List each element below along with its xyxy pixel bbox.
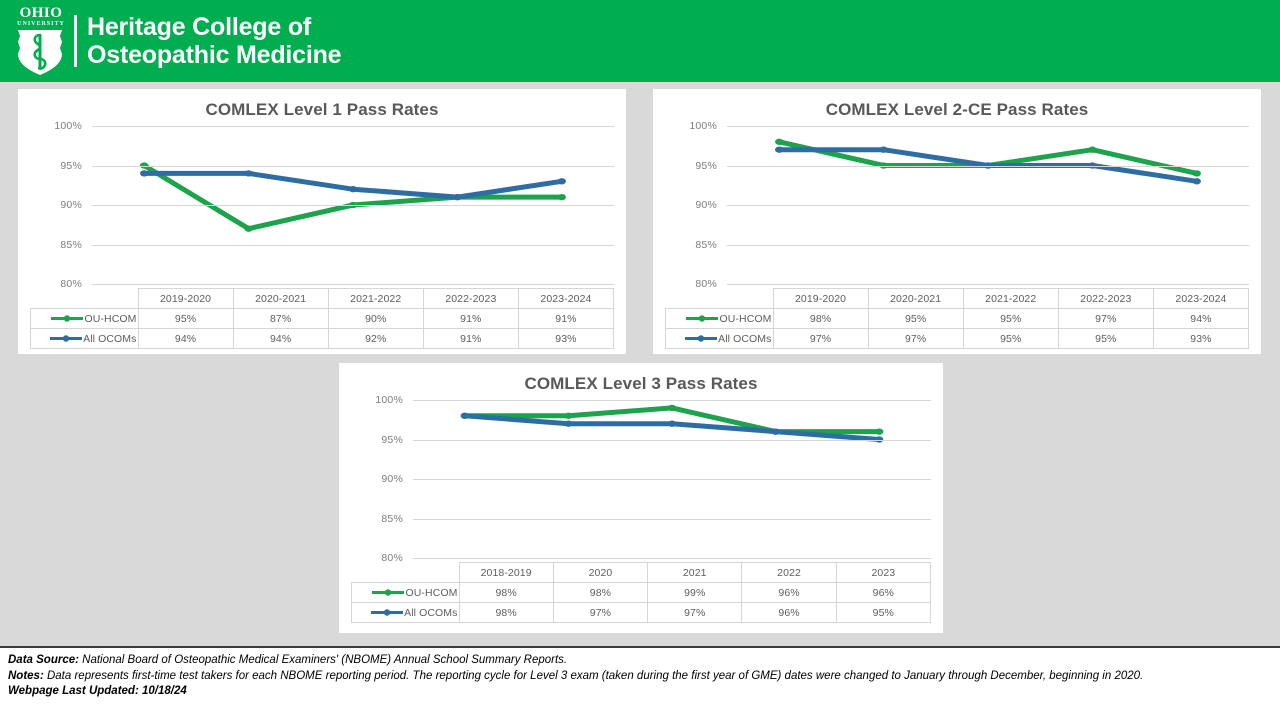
table-cell-value: 92% [328,329,423,349]
plot-wrap-level1: 100%95%90%85%80% [30,126,614,284]
gridline [413,400,931,401]
gridline [413,519,931,520]
y-tick-label: 85% [381,513,403,525]
table-cell-value: 95% [1058,329,1153,349]
table-cell-value: 91% [423,309,518,329]
gridline [92,166,614,167]
shield-svg [16,28,64,76]
legend-cell-all-ocoms: All OCOMs [666,329,774,349]
data-source-label: Data Source: [8,654,79,666]
footnotes: Data Source: National Board of Osteopath… [0,646,1280,720]
data-point-marker [875,428,883,434]
y-tick-label: 80% [695,278,717,290]
ohio-university-shield-icon: OHIO UNIVERSITY [8,4,70,78]
table-column-header: 2020-2021 [233,289,328,309]
series-line-all-ocoms [465,416,879,440]
table-cell-value: 93% [1153,329,1248,349]
data-table-level2: 2019-20202020-20212021-20222022-20232023… [665,288,1249,349]
table-row: OU-HCOM95%87%90%91%91% [31,309,614,329]
gridline [727,284,1249,285]
plot-area-level3 [413,400,931,558]
data-point-marker [564,421,572,427]
chart-panel-level2: COMLEX Level 2-CE Pass Rates 100%95%90%8… [653,89,1261,354]
table-corner-cell [352,563,460,583]
gridline [413,479,931,480]
gridline [727,205,1249,206]
table-cell-value: 96% [742,603,836,623]
table-header-row: 2019-20202020-20212021-20222022-20232023… [666,289,1249,309]
college-title: Heritage College of Osteopathic Medicine [87,13,341,69]
y-axis-level3: 100%95%90%85%80% [351,400,409,558]
legend-line-marker-icon [370,607,404,618]
table-cell-value: 97% [553,603,647,623]
y-tick-label: 95% [695,160,717,172]
table-column-header: 2019-2020 [138,289,233,309]
gridline [92,245,614,246]
data-point-marker [879,147,887,153]
data-point-marker [244,170,252,176]
data-point-marker [775,139,783,145]
legend-cell-ou-hcom: OU-HCOM [352,583,460,603]
y-tick-label: 85% [60,239,82,251]
table-cell-value: 87% [233,309,328,329]
data-point-marker [564,413,572,419]
table-cell-value: 90% [328,309,423,329]
data-source-line: Data Source: National Board of Osteopath… [8,653,1272,668]
table-column-header: 2021-2022 [963,289,1058,309]
legend-label: OU-HCOM [719,313,771,325]
table-cell-value: 95% [138,309,233,329]
legend-label: OU-HCOM [405,587,457,599]
table-column-header: 2020 [553,563,647,583]
table-column-header: 2021 [648,563,742,583]
gridline [413,440,931,441]
table-column-header: 2022-2023 [1058,289,1153,309]
data-point-marker [244,226,252,232]
table-cell-value: 91% [423,329,518,349]
table-row: All OCOMs94%94%92%91%93% [31,329,614,349]
plot-area-level2 [727,126,1249,284]
table-header-row: 2019-20202020-20212021-20222022-20232023… [31,289,614,309]
data-point-marker [771,428,779,434]
table-row: All OCOMs97%97%95%95%93% [666,329,1249,349]
table-cell-value: 94% [1153,309,1248,329]
y-tick-label: 85% [695,239,717,251]
table-cell-value: 95% [963,329,1058,349]
notes-label: Notes: [8,670,44,682]
legend-label: OU-HCOM [84,313,136,325]
logo-subwordmark: UNIVERSITY [12,21,70,28]
data-point-marker [1193,178,1201,184]
y-axis-level1: 100%95%90%85%80% [30,126,88,284]
gridline [413,558,931,559]
y-tick-label: 100% [54,120,82,132]
table-cell-value: 98% [459,583,553,603]
data-point-marker [775,147,783,153]
y-tick-label: 95% [60,160,82,172]
legend-label: All OCOMs [404,607,457,619]
table-cell-value: 95% [868,309,963,329]
y-tick-label: 90% [60,199,82,211]
legend-cell-ou-hcom: OU-HCOM [666,309,774,329]
legend-line-marker-icon [49,333,83,344]
table-cell-value: 95% [963,309,1058,329]
data-point-marker [349,186,357,192]
table-cell-value: 98% [773,309,868,329]
data-point-marker [558,194,566,200]
table-corner-cell [31,289,139,309]
table-column-header: 2023-2024 [518,289,613,309]
table-cell-value: 97% [773,329,868,349]
y-tick-label: 80% [381,552,403,564]
table-cell-value: 95% [836,603,930,623]
data-point-marker [453,194,461,200]
gridline [92,284,614,285]
site-header: OHIO UNIVERSITY Heritage College of Oste… [0,0,1280,82]
chart-title-level1: COMLEX Level 1 Pass Rates [18,89,626,120]
gridline [92,205,614,206]
legend-line-marker-icon [685,313,719,324]
y-axis-level2: 100%95%90%85%80% [665,126,723,284]
ohio-university-logo: OHIO UNIVERSITY Heritage College of Oste… [8,4,341,78]
gridline [727,126,1249,127]
y-tick-label: 80% [60,278,82,290]
plot-wrap-level2: 100%95%90%85%80% [665,126,1249,284]
plot-area-level1 [92,126,614,284]
data-point-marker [1088,147,1096,153]
y-tick-label: 100% [375,394,403,406]
legend-line-marker-icon [371,587,405,598]
table-column-header: 2019-2020 [773,289,868,309]
table-cell-value: 99% [648,583,742,603]
y-tick-label: 90% [695,199,717,211]
table-column-header: 2023-2024 [1153,289,1248,309]
legend-cell-all-ocoms: All OCOMs [352,603,460,623]
table-cell-value: 91% [518,309,613,329]
plot-wrap-level3: 100%95%90%85%80% [351,400,931,558]
table-column-header: 2022 [742,563,836,583]
notes-line: Notes: Data represents first-time test t… [8,669,1272,684]
college-title-line2: Osteopathic Medicine [87,41,341,69]
table-column-header: 2018-2019 [459,563,553,583]
y-tick-label: 95% [381,434,403,446]
table-column-header: 2020-2021 [868,289,963,309]
data-point-marker [461,413,469,419]
legend-label: All OCOMs [83,333,136,345]
legend-label: All OCOMs [718,333,771,345]
table-row: All OCOMs98%97%97%96%95% [352,603,931,623]
table-cell-value: 97% [648,603,742,623]
table-cell-value: 93% [518,329,613,349]
data-point-marker [668,421,676,427]
chart-title-level3: COMLEX Level 3 Pass Rates [339,363,943,394]
gridline [727,166,1249,167]
table-cell-value: 98% [459,603,553,623]
table-corner-cell [666,289,774,309]
table-cell-value: 97% [868,329,963,349]
table-cell-value: 94% [233,329,328,349]
notes-text: Data represents first-time test takers f… [44,670,1143,682]
y-tick-label: 90% [381,473,403,485]
data-source-text: National Board of Osteopathic Medical Ex… [79,654,567,666]
table-column-header: 2023 [836,563,930,583]
table-cell-value: 98% [553,583,647,603]
gridline [92,126,614,127]
logo-wordmark: OHIO [12,6,70,21]
last-updated-line: Webpage Last Updated: 10/18/24 [8,684,1272,699]
data-point-marker [668,405,676,411]
logo-divider [74,15,77,67]
legend-cell-ou-hcom: OU-HCOM [31,309,139,329]
y-tick-label: 100% [689,120,717,132]
table-column-header: 2022-2023 [423,289,518,309]
table-cell-value: 96% [836,583,930,603]
data-point-marker [1193,170,1201,176]
chart-panel-level1: COMLEX Level 1 Pass Rates 100%95%90%85%8… [18,89,626,354]
table-header-row: 2018-20192020202120222023 [352,563,931,583]
legend-cell-all-ocoms: All OCOMs [31,329,139,349]
gridline [727,245,1249,246]
data-table-level1: 2019-20202020-20212021-20222022-20232023… [30,288,614,349]
college-title-line1: Heritage College of [87,13,341,41]
table-cell-value: 96% [742,583,836,603]
table-row: OU-HCOM98%98%99%96%96% [352,583,931,603]
chart-title-level2: COMLEX Level 2-CE Pass Rates [653,89,1261,120]
table-cell-value: 97% [1058,309,1153,329]
table-row: OU-HCOM98%95%95%97%94% [666,309,1249,329]
chart-panel-level3: COMLEX Level 3 Pass Rates 100%95%90%85%8… [339,363,943,633]
table-column-header: 2021-2022 [328,289,423,309]
data-point-marker [140,170,148,176]
data-table-level3: 2018-20192020202120222023OU-HCOM98%98%99… [351,562,931,623]
series-line-all-ocoms [144,173,562,197]
legend-line-marker-icon [684,333,718,344]
data-point-marker [558,178,566,184]
table-cell-value: 94% [138,329,233,349]
legend-line-marker-icon [50,313,84,324]
